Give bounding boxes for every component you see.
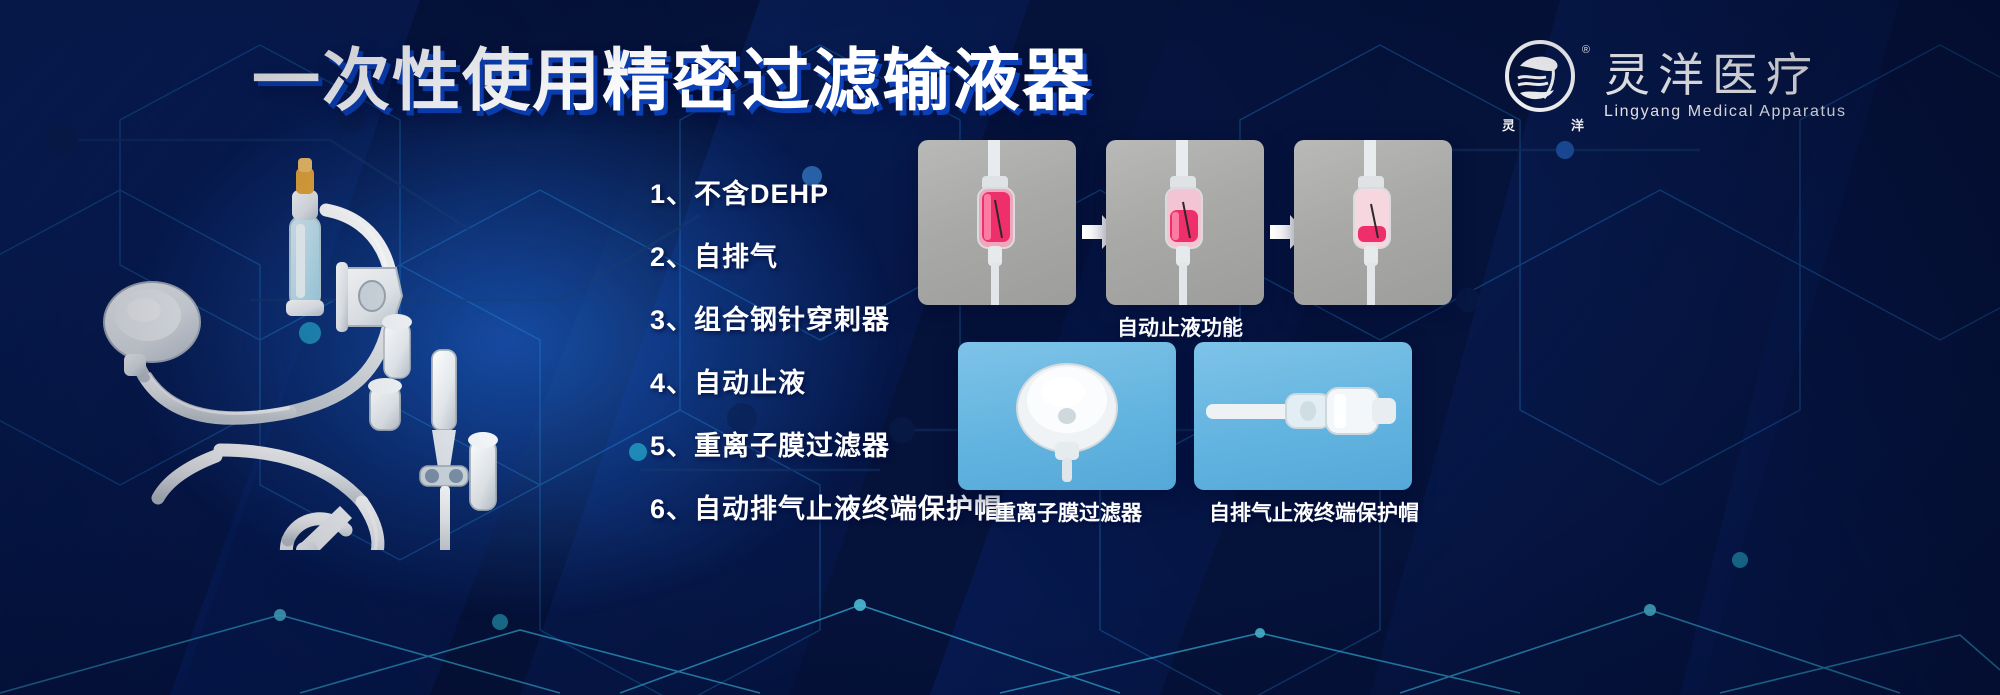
product-banner: 一次性使用精密过滤输液器 ® 灵 洋 灵洋医疗 Lingyang Medical… <box>0 0 2000 695</box>
background-vignette <box>0 0 2000 695</box>
